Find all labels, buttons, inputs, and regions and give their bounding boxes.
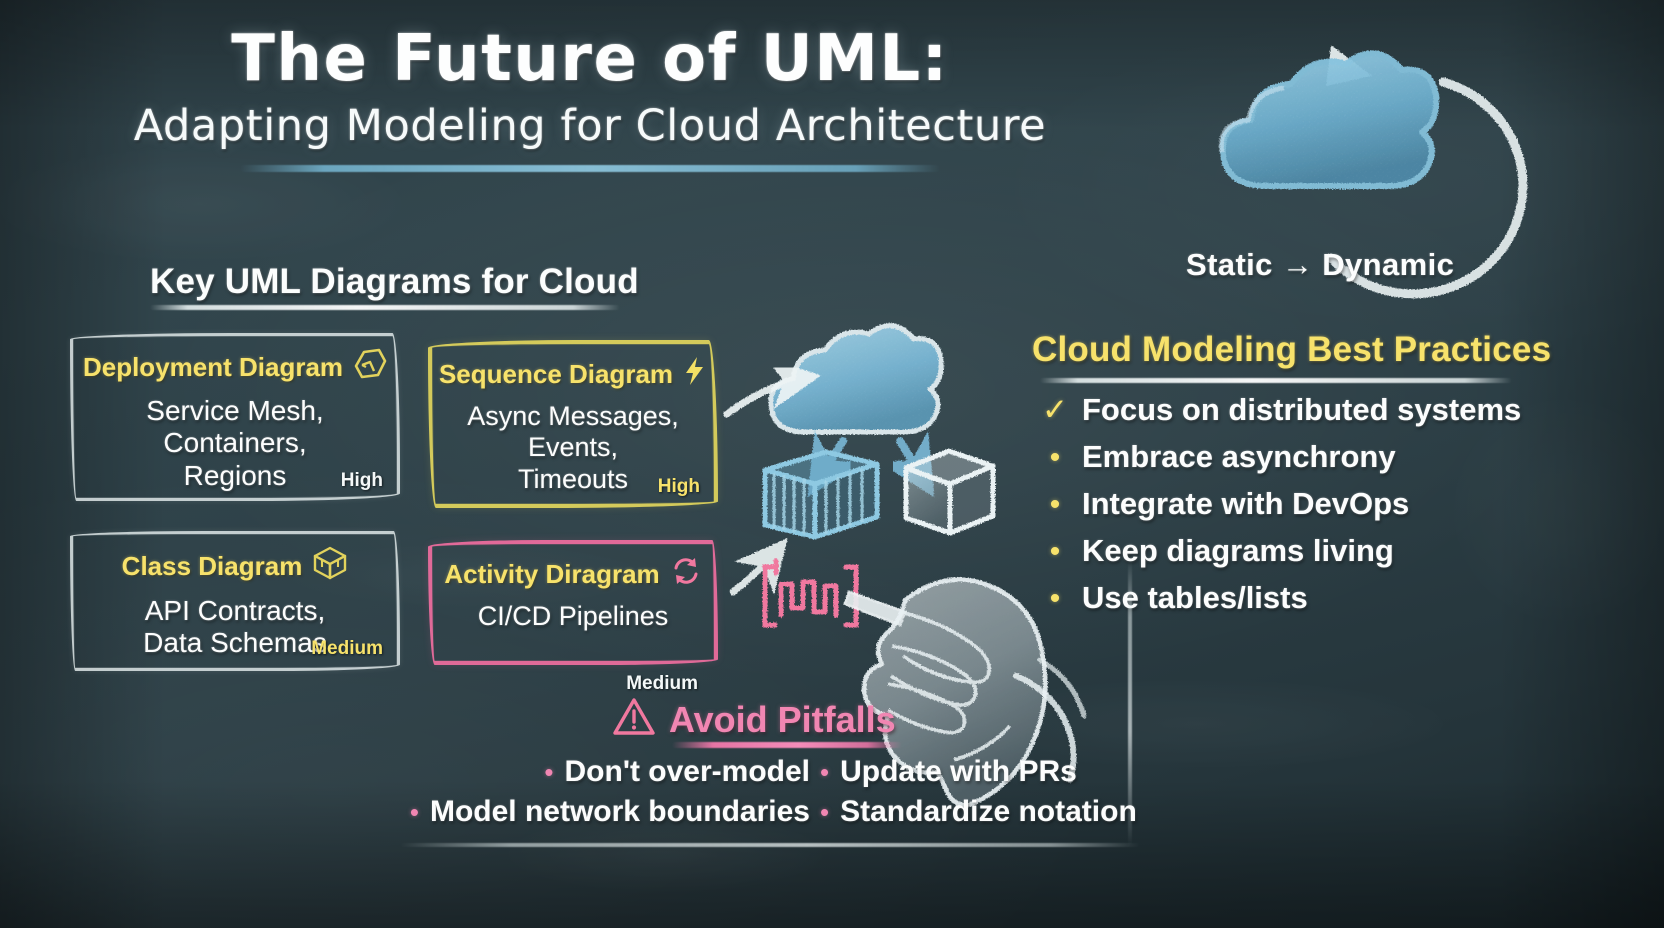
status-badge: Medium bbox=[311, 638, 383, 660]
refresh-cycle-icon bbox=[670, 556, 702, 593]
list-item[interactable]: • Don't over-model bbox=[544, 755, 810, 789]
bullet-icon: • bbox=[1040, 584, 1070, 614]
title-block: The Future of UML: Adapting Modeling for… bbox=[0, 26, 1180, 172]
bullet-icon: • bbox=[1040, 443, 1070, 473]
chalkboard-canvas: The Future of UML: Adapting Modeling for… bbox=[0, 0, 1664, 928]
card-body-line: CI/CD Pipelines bbox=[448, 601, 698, 632]
card-activity-diagram[interactable]: Activity Diragram CI/CD Pipelines Medium bbox=[428, 540, 718, 665]
status-badge: High bbox=[341, 470, 383, 492]
card-deployment-title: Deployment Diagram bbox=[83, 352, 343, 383]
title-underline bbox=[240, 165, 940, 172]
list-item-label: Embrace asynchrony bbox=[1082, 439, 1396, 475]
list-item[interactable]: • Embrace asynchrony bbox=[1040, 439, 1640, 475]
pitfalls-title: Avoid Pitfalls bbox=[669, 699, 896, 741]
card-deployment-body: Service Mesh, Containers, Regions bbox=[89, 395, 381, 492]
list-item[interactable]: • Standardize notation bbox=[820, 795, 1150, 829]
card-body-line: Regions bbox=[89, 460, 381, 492]
pitfalls-bottom-divider bbox=[400, 843, 1140, 847]
left-panel-heading: Key UML Diagrams for Cloud bbox=[150, 262, 639, 302]
card-activity-body: CI/CD Pipelines bbox=[448, 601, 698, 632]
bullet-icon: • bbox=[820, 799, 829, 825]
list-item-label: Use tables/lists bbox=[1082, 580, 1308, 616]
list-item-label: Update with PRs bbox=[840, 755, 1077, 789]
right-panel-heading: Cloud Modeling Best Practices bbox=[1032, 330, 1551, 370]
bullet-icon: • bbox=[1040, 537, 1070, 567]
card-title-row: Sequence Diagram bbox=[448, 356, 698, 393]
bullet-icon: • bbox=[410, 799, 419, 825]
card-body-line: Containers, bbox=[89, 427, 381, 459]
cube-box-icon bbox=[312, 546, 348, 587]
list-item[interactable]: • Integrate with DevOps bbox=[1040, 486, 1640, 522]
card-title-row: Activity Diragram bbox=[448, 556, 698, 593]
pitfalls-heading-row: Avoid Pitfalls bbox=[612, 697, 896, 742]
status-badge: Medium bbox=[626, 673, 698, 695]
card-body-line: Service Mesh, bbox=[89, 395, 381, 427]
lightning-bolt-icon bbox=[683, 356, 707, 393]
card-body-line: Events, bbox=[448, 432, 698, 463]
card-sequence-diagram[interactable]: Sequence Diagram Async Messages, Events,… bbox=[428, 340, 718, 508]
bullet-icon: • bbox=[544, 759, 553, 785]
list-item[interactable]: • Model network boundaries bbox=[410, 795, 810, 829]
card-body-line: API Contracts, bbox=[89, 595, 381, 627]
page-title: The Future of UML: bbox=[0, 26, 1180, 93]
check-icon: ✓ bbox=[1040, 394, 1070, 425]
left-panel-heading-underline bbox=[150, 305, 620, 310]
list-item-label: Don't over-model bbox=[565, 755, 810, 789]
card-class-diagram[interactable]: Class Diagram API Contracts, Data Schema… bbox=[70, 531, 400, 671]
static-dynamic-label: Static → Dynamic bbox=[1186, 247, 1454, 283]
bullet-icon: • bbox=[1040, 490, 1070, 520]
list-item[interactable]: • Update with PRs bbox=[820, 755, 1150, 789]
card-sequence-title: Sequence Diagram bbox=[439, 359, 673, 390]
card-title-row: Deployment Diagram bbox=[89, 348, 381, 387]
list-item-label: Standardize notation bbox=[840, 795, 1137, 829]
warning-triangle-icon bbox=[612, 697, 656, 742]
text-layer: The Future of UML: Adapting Modeling for… bbox=[0, 0, 1664, 928]
card-class-title: Class Diagram bbox=[122, 551, 303, 582]
node-hexagon-icon bbox=[353, 348, 387, 387]
list-item-label: Focus on distributed systems bbox=[1082, 392, 1521, 428]
status-badge: High bbox=[658, 476, 700, 498]
card-title-row: Class Diagram bbox=[89, 546, 381, 587]
pitfalls-underline bbox=[672, 742, 902, 748]
list-item-label: Integrate with DevOps bbox=[1082, 486, 1409, 522]
list-item[interactable]: ✓ Focus on distributed systems bbox=[1040, 392, 1640, 428]
page-subtitle: Adapting Modeling for Cloud Architecture bbox=[0, 101, 1180, 151]
right-panel-heading-underline bbox=[1040, 378, 1512, 383]
card-body-line: Async Messages, bbox=[448, 401, 698, 432]
card-deployment-diagram[interactable]: Deployment Diagram Service Mesh, Contain… bbox=[70, 333, 400, 501]
list-item-label: Model network boundaries bbox=[430, 795, 810, 829]
pitfalls-list: • Don't over-model • Update with PRs • M… bbox=[420, 755, 1150, 829]
card-activity-title: Activity Diragram bbox=[444, 559, 659, 590]
bullet-icon: • bbox=[820, 759, 829, 785]
